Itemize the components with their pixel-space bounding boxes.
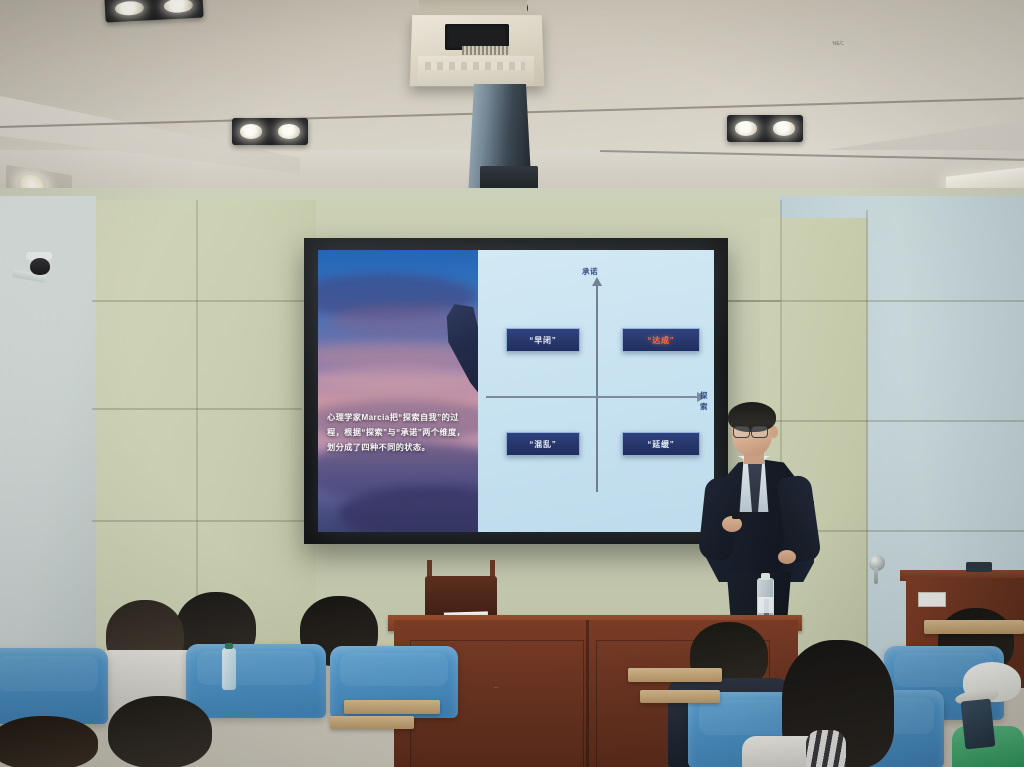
water-bottle-on-seat <box>222 648 236 690</box>
lamp-glow <box>278 124 301 138</box>
glasses-bridge <box>748 430 752 431</box>
lamp-glow <box>163 0 193 13</box>
lamp-glow <box>240 124 263 138</box>
quadrant-box-diffusion[interactable]: “混乱” <box>506 432 580 456</box>
lecture-hall-photo: NEC 心理学家Marcia把“探索自我”的过程，根据“探索”与“承诺”两个维度… <box>0 0 1024 767</box>
quadrant-box-achievement[interactable]: “达成” <box>622 328 700 352</box>
lamp-glow <box>773 121 796 135</box>
fold-down-desk[interactable] <box>628 668 722 682</box>
projector-mount-detail <box>425 62 525 70</box>
presenter-hand-right <box>778 550 796 564</box>
podium-divider <box>586 620 589 767</box>
slide-caption-text: 心理学家Marcia把“探索自我”的过程，根据“探索”与“承诺”两个维度，划分成… <box>327 410 473 455</box>
projector-vent <box>462 46 510 55</box>
cabinet-label-tag <box>918 592 946 607</box>
presenter-ear <box>770 426 778 438</box>
axis-vertical <box>596 284 598 492</box>
cabinet-object <box>966 562 992 572</box>
fold-down-desk[interactable] <box>344 700 440 714</box>
projection-screen[interactable]: 心理学家Marcia把“探索自我”的过程，根据“探索”与“承诺”两个维度，划分成… <box>318 250 714 532</box>
auditorium-seat[interactable] <box>0 648 108 724</box>
slide-photo-panel: 心理学家Marcia把“探索自我”的过程，根据“探索”与“承诺”两个维度，划分成… <box>318 250 478 532</box>
glasses-icon <box>751 426 768 438</box>
bottle-cap <box>761 573 770 580</box>
fold-down-desk[interactable] <box>924 620 1024 634</box>
spotlight-ceiling-center <box>232 118 308 145</box>
presentation-clicker-icon <box>732 512 745 519</box>
wall-seam <box>728 300 1024 302</box>
glasses-icon <box>733 426 750 438</box>
lamp-glow <box>735 121 758 135</box>
slide-diagram-panel: 承诺 探索 “早闭” “达成” “混乱” “延缓” <box>478 250 714 532</box>
spotlight-ceiling-right <box>727 115 803 142</box>
attendee-striped-scarf <box>806 730 846 767</box>
wall-seam-vertical <box>196 200 198 640</box>
bottle-cap <box>225 643 233 649</box>
quadrant-box-foreclosure[interactable]: “早闭” <box>506 328 580 352</box>
lamp-glow <box>114 1 144 16</box>
security-camera-icon <box>30 258 50 275</box>
axis-horizontal <box>486 396 698 398</box>
phone-screen-icon[interactable] <box>961 699 996 750</box>
fold-down-desk[interactable] <box>330 716 414 729</box>
fold-down-desk[interactable] <box>640 690 720 703</box>
auditorium-seat[interactable] <box>186 644 326 718</box>
wall-hook-stem <box>874 568 878 584</box>
attendee-front-far-left <box>0 716 98 767</box>
bottle-label <box>758 597 773 613</box>
attendee-front-left <box>108 696 212 767</box>
wall-seam <box>92 520 306 522</box>
wall-seam-vertical <box>866 210 868 650</box>
quadrant-box-moratorium[interactable]: “延缓” <box>622 432 700 456</box>
projector-brand-label: NEC <box>832 41 845 47</box>
axis-label-commitment: 承诺 <box>582 266 598 277</box>
projector-mount-plate <box>418 56 534 86</box>
